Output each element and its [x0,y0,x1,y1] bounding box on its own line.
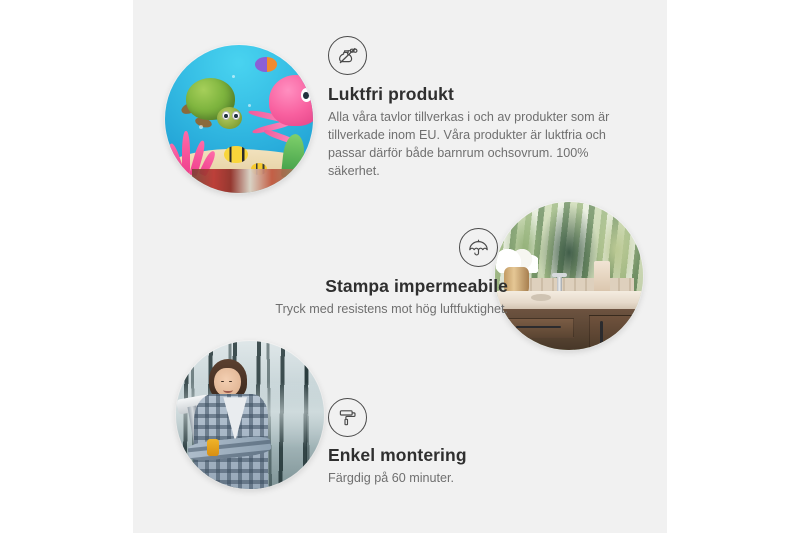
feature-description: Alla våra tavlor tillverkas i och av pro… [328,109,618,181]
handheld-tool [207,439,219,457]
coral-branch [182,131,190,175]
feature-icon-row [218,228,508,267]
sea-turtle [181,78,252,134]
photo-bathroom-botanical [495,202,643,350]
bathroom-bottle [594,261,610,294]
feature-icon-row [328,36,618,75]
octopus-eye [301,88,313,102]
photo-underwater-scene [165,45,313,193]
octopus-head [269,75,313,126]
turtle-eye [222,111,230,120]
bathroom-countertop [495,291,643,310]
woman-smile [223,387,233,393]
no-fragrance-icon [328,36,367,75]
vanity-door [589,315,639,350]
fish-purple [255,57,277,72]
product-feature-panel: Luktfri produkt Alla våra tavlor tillver… [0,0,800,533]
vanity-drawer [502,318,574,338]
paint-roller-icon [328,398,367,437]
underwater-foreground-strip [192,169,313,193]
feature-odour-free: Luktfri produkt Alla våra tavlor tillver… [328,36,618,181]
feature-waterproof-print: Stampa impermeabile Tryck med resistens … [218,228,508,319]
bubble [248,104,251,107]
feature-icon-row [328,398,588,437]
umbrella-icon [459,228,498,267]
feature-title: Enkel montering [328,445,588,466]
feature-title: Stampa impermeabile [218,276,508,297]
woman-eye [229,381,232,383]
content-panel: Luktfri produkt Alla våra tavlor tillver… [133,0,667,533]
feature-title: Luktfri produkt [328,84,618,105]
wooden-vanity [495,309,643,350]
fish-yellow [224,146,248,164]
feature-easy-installation: Enkel montering Färgdig på 60 minuter. [328,398,588,488]
feature-description: Färgdig på 60 minuter. [328,470,588,488]
bathroom-faucet [557,273,561,291]
woman-eye [221,381,224,383]
octopus [254,75,313,146]
photo-woman-paint-roller [176,341,324,489]
feature-description: Tryck med resistens mot hög luftfuktighe… [218,301,508,319]
